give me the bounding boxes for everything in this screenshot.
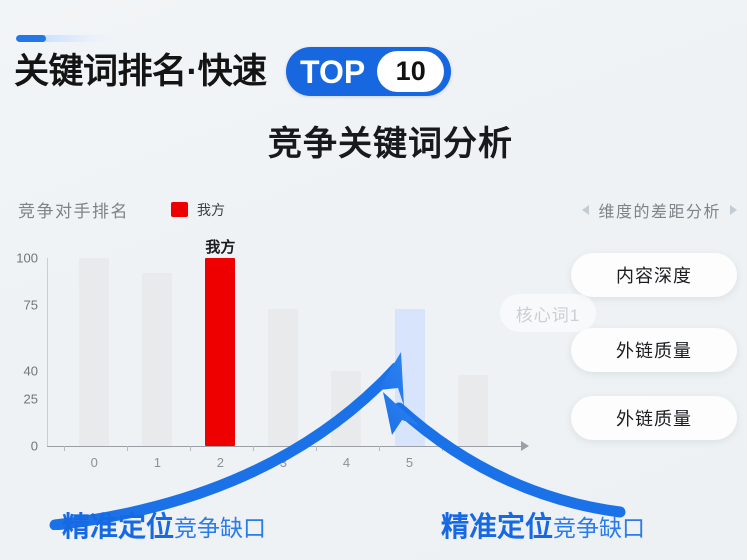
bar <box>395 309 425 446</box>
y-axis-tick-label: 100 <box>0 251 38 266</box>
bar-highlighted <box>205 258 235 446</box>
panel-heading: 维度的差距分析 <box>582 198 737 222</box>
x-axis-tick <box>316 446 317 451</box>
chart-legend: 竞争对手排名 我方 <box>18 197 225 222</box>
y-axis-line <box>47 258 48 446</box>
x-axis-tick-label: 0 <box>91 455 98 470</box>
top-rank-badge: TOP 10 <box>286 47 451 96</box>
bar-highlight-label: 我方 <box>205 236 235 257</box>
dimension-pill[interactable]: 外链质量 <box>571 396 737 440</box>
x-axis-tick-label: 3 <box>280 455 287 470</box>
page-title: 关键词排名·快速 <box>14 47 267 97</box>
x-axis-tick-label: 5 <box>406 455 413 470</box>
x-axis-tick-label: 5 <box>469 455 476 470</box>
bar-chart: 0254075100 我方 0123455 <box>0 250 560 475</box>
x-axis-arrow-icon <box>521 441 529 451</box>
top-rank-badge-circle: 10 <box>377 51 444 92</box>
x-axis-tick <box>379 446 380 451</box>
y-axis-tick-label: 40 <box>0 363 38 378</box>
top-rank-badge-label: TOP <box>300 56 365 88</box>
x-axis-tick-label: 1 <box>154 455 161 470</box>
y-axis-tick-label: 75 <box>0 298 38 313</box>
progress-bar <box>16 35 114 42</box>
x-axis-line <box>47 446 523 447</box>
callout-right: 精准定位 竞争缺口 <box>441 505 645 545</box>
x-axis-tick-label: 4 <box>343 455 350 470</box>
y-axis-tick-label: 25 <box>0 392 38 407</box>
bar <box>331 371 361 446</box>
ghost-keyword-pill: 核心词1 <box>500 294 596 332</box>
dimension-pill[interactable]: 内容深度 <box>571 253 737 297</box>
x-axis-tick <box>127 446 128 451</box>
top-rank-badge-number: 10 <box>396 58 426 85</box>
page-subtitle: 竞争关键词分析 <box>0 116 747 165</box>
chart-legend-title: 竞争对手排名 <box>18 197 129 222</box>
callout-left: 精准定位 竞争缺口 <box>62 505 266 545</box>
callout-left-weak: 竞争缺口 <box>174 509 266 543</box>
slide-canvas: 关键词排名·快速 TOP 10 竞争关键词分析 竞争对手排名 我方 维度的差距分… <box>0 0 747 560</box>
callout-right-strong: 精准定位 <box>441 505 553 545</box>
x-axis-tick <box>253 446 254 451</box>
dimension-pill[interactable]: 外链质量 <box>571 328 737 372</box>
bar <box>142 273 172 446</box>
legend-item-label: 我方 <box>197 200 225 220</box>
bar <box>458 375 488 446</box>
panel-heading-label: 维度的差距分析 <box>598 198 721 222</box>
header: 关键词排名·快速 <box>14 46 267 98</box>
x-axis-tick <box>442 446 443 451</box>
x-axis-tick <box>190 446 191 451</box>
callout-right-weak: 竞争缺口 <box>553 509 645 543</box>
progress-bar-fill <box>16 35 46 42</box>
triangle-left-icon <box>582 205 589 215</box>
legend-item-mine: 我方 <box>171 200 225 220</box>
callout-left-strong: 精准定位 <box>62 505 174 545</box>
triangle-right-icon <box>730 205 737 215</box>
x-axis-tick <box>64 446 65 451</box>
bar <box>79 258 109 446</box>
x-axis-tick-label: 2 <box>217 455 224 470</box>
bar <box>268 309 298 446</box>
y-axis-tick-label: 0 <box>0 439 38 454</box>
legend-swatch-icon <box>171 202 188 217</box>
